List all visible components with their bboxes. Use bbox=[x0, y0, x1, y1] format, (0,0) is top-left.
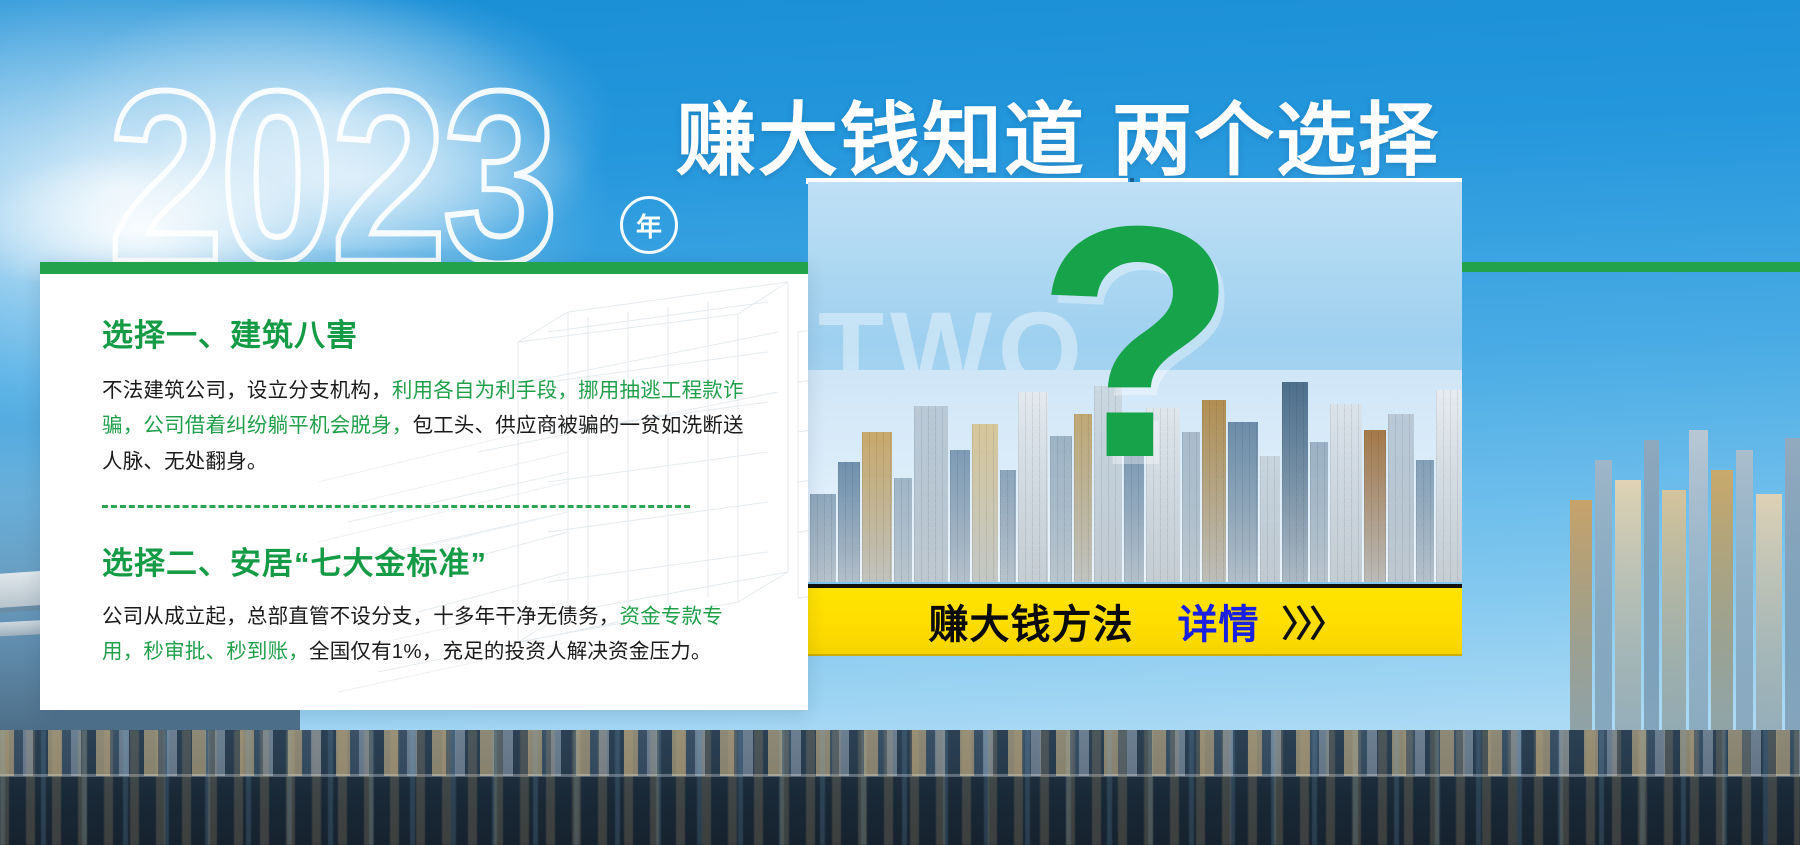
building-block bbox=[1416, 460, 1434, 582]
cta-main-label: 赚大钱方法 bbox=[928, 592, 1133, 650]
section-one-title: 选择一、建筑八害 bbox=[102, 310, 762, 355]
tower-block bbox=[1595, 460, 1612, 730]
building-block bbox=[1228, 422, 1258, 582]
s2-line2-black: 全国仅有1%，充足的投资人解决资金压力。 bbox=[309, 640, 712, 663]
building-block bbox=[914, 406, 948, 582]
building-block bbox=[838, 462, 860, 582]
tower-block bbox=[1570, 500, 1592, 730]
s2-line1-black: 公司从成立起，总部直管不设分支，十多年干净无债务， bbox=[102, 605, 620, 628]
green-accent-bar-right bbox=[1462, 262, 1800, 272]
s1-line2-black: 包工头、供应商被骗的一贫如洗 bbox=[413, 414, 703, 437]
section-two-body: 公司从成立起，总部直管不设分支，十多年干净无债务，资金专款专用，秒审批、秒到账，… bbox=[102, 599, 762, 670]
bottom-water-strip bbox=[0, 730, 1800, 845]
building-block bbox=[894, 478, 912, 582]
building-block bbox=[1388, 414, 1414, 582]
chevron-right-icon: 〉〉〉 bbox=[1281, 595, 1341, 647]
s1-line1-black: 不法建筑公司，设立分支机构， bbox=[102, 379, 392, 402]
building-block bbox=[1000, 470, 1016, 582]
building-block bbox=[1260, 456, 1280, 582]
tower-block bbox=[1736, 450, 1753, 730]
question-mark-icon: ? bbox=[1036, 210, 1232, 474]
building-block bbox=[1364, 430, 1386, 582]
building-block bbox=[810, 494, 836, 582]
building-block bbox=[862, 432, 892, 582]
right-image-panel: TWO CHOICES ? bbox=[808, 182, 1462, 582]
building-block bbox=[1436, 390, 1462, 582]
water-reflection bbox=[0, 730, 1800, 845]
section-one-body: 不法建筑公司，设立分支机构，利用各自为利手段，挪用抽逃工程款诈骗，公司借着纠纷躺… bbox=[102, 373, 762, 479]
tower-block bbox=[1689, 430, 1708, 730]
section-two-title: 选择二、安居“七大金标准” bbox=[102, 538, 762, 583]
building-block bbox=[972, 424, 998, 582]
headline-right-text: 两个选择 bbox=[1112, 96, 1440, 185]
section-divider-dashed bbox=[102, 505, 690, 508]
cta-details-link[interactable]: 详情 bbox=[1177, 592, 1259, 650]
building-block bbox=[1282, 382, 1308, 582]
right-edge-towers bbox=[1570, 400, 1800, 730]
year-unit-badge: 年 bbox=[620, 196, 678, 254]
poster-canvas: 2023 年 赚大钱知道两个选择 TWO CHOICES ? 赚大钱方法 详情 … bbox=[0, 0, 1800, 845]
section-two: 选择二、安居“七大金标准” 公司从成立起，总部直管不设分支，十多年干净无债务，资… bbox=[102, 538, 762, 670]
s2-line2-green: 用，秒审批、秒到账， bbox=[102, 640, 309, 663]
building-block bbox=[950, 450, 970, 582]
card-content: 选择一、建筑八害 不法建筑公司，设立分支机构，利用各自为利手段，挪用抽逃工程款诈… bbox=[102, 310, 762, 669]
building-block bbox=[1310, 442, 1328, 582]
section-one: 选择一、建筑八害 不法建筑公司，设立分支机构，利用各自为利手段，挪用抽逃工程款诈… bbox=[102, 310, 762, 479]
year-outline-group: 2023 bbox=[108, 62, 537, 252]
year-outline-text: 2023 bbox=[108, 62, 554, 294]
cta-banner[interactable]: 赚大钱方法 详情 〉〉〉 bbox=[808, 584, 1462, 656]
card-top-accent-bar bbox=[40, 262, 808, 274]
tower-block bbox=[1711, 470, 1733, 730]
s2-line1-green: 资金专款专 bbox=[620, 605, 724, 628]
building-block bbox=[1330, 404, 1362, 582]
tower-block bbox=[1615, 480, 1641, 730]
headline-left-text: 赚大钱知道 bbox=[676, 96, 1086, 185]
s1-line1-green: 利用各自为利手段，挪用抽逃工程款 bbox=[392, 379, 723, 402]
tower-block bbox=[1644, 440, 1659, 730]
content-card: 选择一、建筑八害 不法建筑公司，设立分支机构，利用各自为利手段，挪用抽逃工程款诈… bbox=[40, 262, 808, 710]
page-title: 赚大钱知道两个选择 bbox=[676, 76, 1440, 192]
tower-block bbox=[1756, 494, 1782, 730]
tower-block bbox=[1662, 490, 1686, 730]
tower-block bbox=[1785, 438, 1800, 730]
